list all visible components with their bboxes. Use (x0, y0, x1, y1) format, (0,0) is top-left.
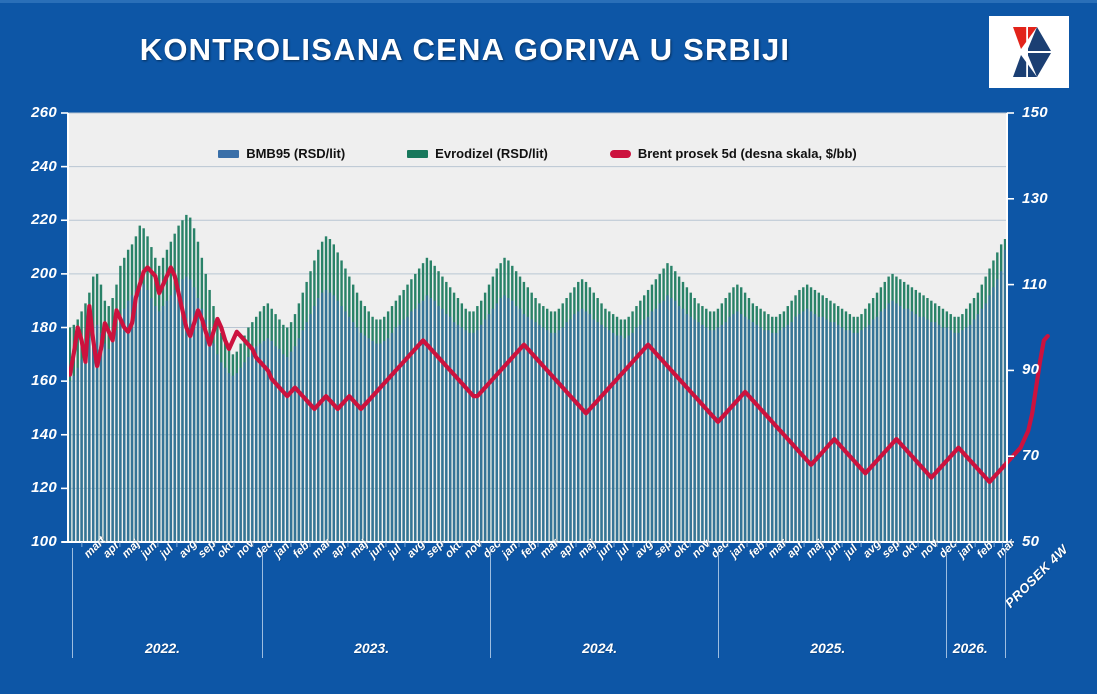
x-axis-year-label: 2023. (354, 640, 389, 656)
chart-plot-area (0, 0, 1097, 694)
legend-label: BMB95 (RSD/lit) (246, 146, 345, 161)
legend-swatch-icon (610, 150, 631, 158)
left-axis-tick: 120 (31, 479, 57, 496)
year-separator (490, 548, 491, 658)
left-axis-tick: 180 (31, 319, 57, 336)
left-axis-tick: 220 (31, 211, 57, 228)
right-axis-tick: 110 (1022, 276, 1047, 293)
left-axis-tick: 160 (31, 372, 57, 389)
year-separator (72, 548, 73, 658)
chart-canvas: KONTROLISANA CENA GORIVA U SRBIJI BMB95 … (0, 0, 1097, 694)
year-separator (718, 548, 719, 658)
legend-swatch-icon (218, 150, 239, 158)
right-axis-tick: 130 (1022, 190, 1048, 207)
right-axis-tick: 50 (1022, 533, 1039, 550)
right-axis-tick: 70 (1022, 447, 1039, 464)
legend-label: Evrodizel (RSD/lit) (435, 146, 548, 161)
year-separator (946, 548, 947, 658)
left-axis-tick: 100 (31, 533, 57, 550)
x-axis-year-label: 2025. (810, 640, 845, 656)
left-axis-tick: 140 (31, 426, 57, 443)
legend-item-1: BMB95 (RSD/lit) (218, 146, 345, 161)
left-axis-tick: 260 (31, 104, 57, 121)
x-axis-year-label: 2022. (145, 640, 180, 656)
left-axis-tick: 240 (31, 158, 57, 175)
x-axis-year-label: 2024. (582, 640, 617, 656)
year-separator (262, 548, 263, 658)
legend-item-2: Evrodizel (RSD/lit) (407, 146, 548, 161)
legend-item-3: Brent prosek 5d (desna skala, $/bb) (610, 146, 857, 161)
legend-label: Brent prosek 5d (desna skala, $/bb) (638, 146, 857, 161)
right-axis-tick: 150 (1022, 104, 1048, 121)
x-axis-year-label: 2026. (953, 640, 988, 656)
year-separator (1005, 548, 1006, 658)
right-axis-tick: 90 (1022, 361, 1039, 378)
legend-swatch-icon (407, 150, 428, 158)
left-axis-tick: 200 (31, 265, 57, 282)
chart-legend: BMB95 (RSD/lit)Evrodizel (RSD/lit)Brent … (68, 146, 1007, 161)
